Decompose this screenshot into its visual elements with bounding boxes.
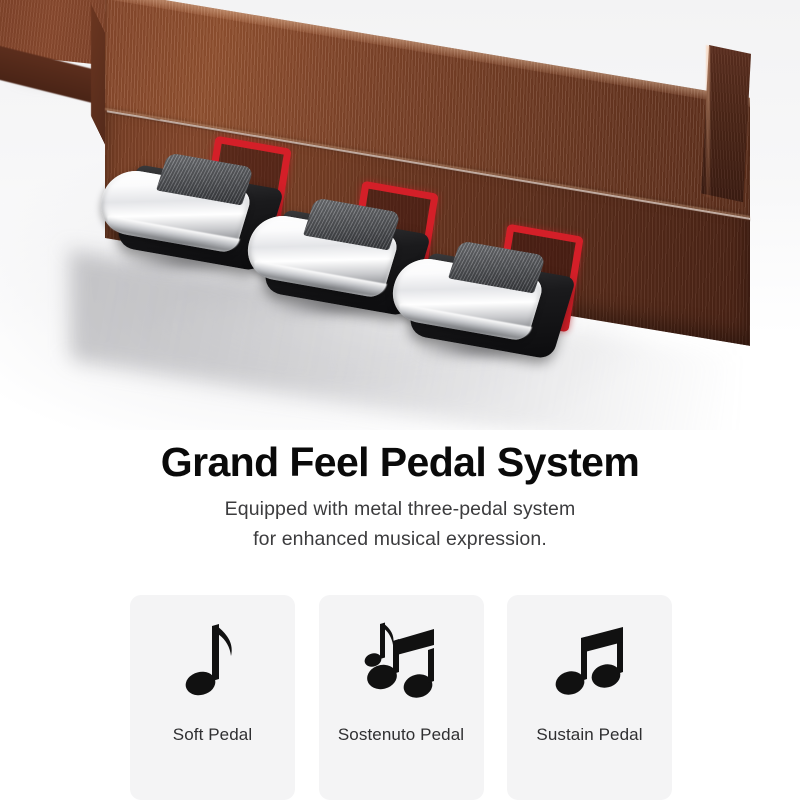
feature-card-sostenuto-pedal: Sostenuto Pedal — [319, 595, 484, 800]
pedal-feature-card-list: Soft Pedal Sostenuto Pedal — [130, 595, 672, 800]
subtitle-line-2: for enhanced musical expression. — [0, 524, 800, 554]
feature-card-label: Sustain Pedal — [528, 723, 650, 746]
page-title: Grand Feel Pedal System — [0, 437, 800, 487]
page-subtitle: Equipped with metal three-pedal system f… — [0, 494, 800, 554]
cabinet-right-bevel — [706, 45, 710, 198]
single-eighth-note-icon — [130, 595, 295, 723]
feature-card-sustain-pedal: Sustain Pedal — [507, 595, 672, 800]
beamed-eighth-notes-icon — [507, 595, 672, 723]
multiple-music-notes-icon — [319, 595, 484, 723]
feature-card-soft-pedal: Soft Pedal — [130, 595, 295, 800]
product-feature-page: Grand Feel Pedal System Equipped with me… — [0, 0, 800, 800]
hero-photo — [0, 0, 800, 430]
subtitle-line-1: Equipped with metal three-pedal system — [0, 494, 800, 524]
feature-card-label: Sostenuto Pedal — [330, 723, 472, 746]
sustain-pedal-hardware — [392, 243, 570, 363]
feature-card-label: Soft Pedal — [165, 723, 260, 746]
